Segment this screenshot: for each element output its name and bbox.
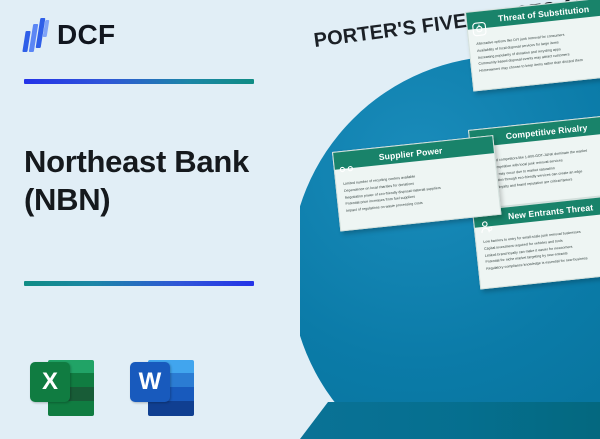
report-cover-page: DCF Northeast Bank (NBN) X W PORTER'S F (0, 0, 600, 439)
card-supplier-power[interactable]: Supplier Power Limited number of recycli… (332, 135, 501, 231)
card-threat-of-substitution[interactable]: Threat of Substitution Alternative optio… (465, 0, 600, 92)
excel-file-icon[interactable]: X (30, 356, 94, 420)
right-panel: PORTER'S FIVE FORCES ANALYSIS Threat of … (300, 0, 600, 439)
decorative-bottom-bar (300, 402, 600, 439)
excel-file-label: X (30, 362, 70, 402)
person-badge-icon (478, 219, 494, 235)
link-chain-icon (338, 161, 354, 177)
page-title: Northeast Bank (NBN) (24, 143, 274, 219)
divider-bottom (24, 281, 254, 286)
refresh-circle-icon (471, 21, 487, 37)
brand-logo[interactable]: DCF (24, 18, 115, 52)
brand-logo-text: DCF (57, 19, 115, 51)
bar-chart-logo-icon (24, 18, 50, 52)
word-file-label: W (130, 362, 170, 402)
download-formats: X W (30, 356, 194, 420)
divider-top (24, 79, 254, 84)
word-file-icon[interactable]: W (130, 356, 194, 420)
left-panel: DCF Northeast Bank (NBN) X W (0, 0, 300, 439)
